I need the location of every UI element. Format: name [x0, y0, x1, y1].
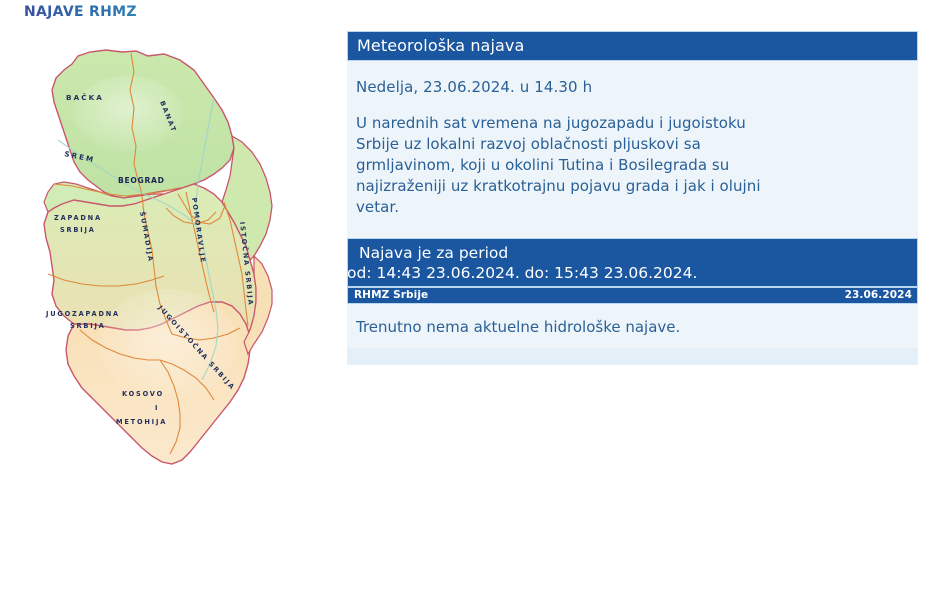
hydro-notice: Trenutno nema aktuelne hidrološke najave… [347, 304, 918, 348]
spacer-before-period [347, 228, 918, 238]
announcement-panel: Meteorološka najava Nedelja, 23.06.2024.… [347, 31, 918, 371]
period-heading: Najava je za period [348, 243, 917, 263]
map-label-zapadna-srbija-1: ZAPADNA [54, 214, 102, 222]
panel-footer-strip [347, 348, 918, 365]
source-date: 23.06.2024 [845, 288, 912, 303]
meteo-body-text: U narednih sat vremena na jugozapadu i j… [347, 100, 918, 228]
map-label-kosovo: KOSOVO [122, 390, 164, 398]
map-label-backa: BAČKA [66, 93, 104, 102]
map-label-metohija: METOHIJA [116, 418, 167, 426]
spacer-after-heading [347, 61, 918, 71]
meteo-heading-bar: Meteorološka najava [347, 31, 918, 61]
page-root: NAJAVE RHMZ [0, 0, 940, 614]
source-bar: RHMZ Srbije 23.06.2024 [347, 287, 918, 304]
meteo-datetime: Nedelja, 23.06.2024. u 14.30 h [347, 71, 918, 100]
period-range: od: 14:43 23.06.2024. do: 15:43 23.06.20… [347, 263, 917, 284]
source-name: RHMZ Srbije [354, 288, 428, 303]
period-bar: Najava je za period od: 14:43 23.06.2024… [347, 238, 918, 287]
serbia-map[interactable]: BAČKA BANAT SREM BEOGRAD ZAPADNA SRBIJA … [18, 44, 336, 476]
map-label-beograd: BEOGRAD [118, 176, 165, 185]
map-svg: BAČKA BANAT SREM BEOGRAD ZAPADNA SRBIJA … [18, 44, 336, 476]
page-title: NAJAVE RHMZ [24, 4, 137, 20]
map-label-jugozapadna-2: SRBIJA [70, 322, 106, 330]
map-label-i: I [155, 404, 159, 412]
panel-tail [347, 365, 918, 371]
meteo-heading-text: Meteorološka najava [357, 36, 524, 55]
map-label-zapadna-srbija-2: SRBIJA [60, 226, 96, 234]
map-label-jugozapadna-1: JUGOZAPADNA [45, 310, 120, 318]
